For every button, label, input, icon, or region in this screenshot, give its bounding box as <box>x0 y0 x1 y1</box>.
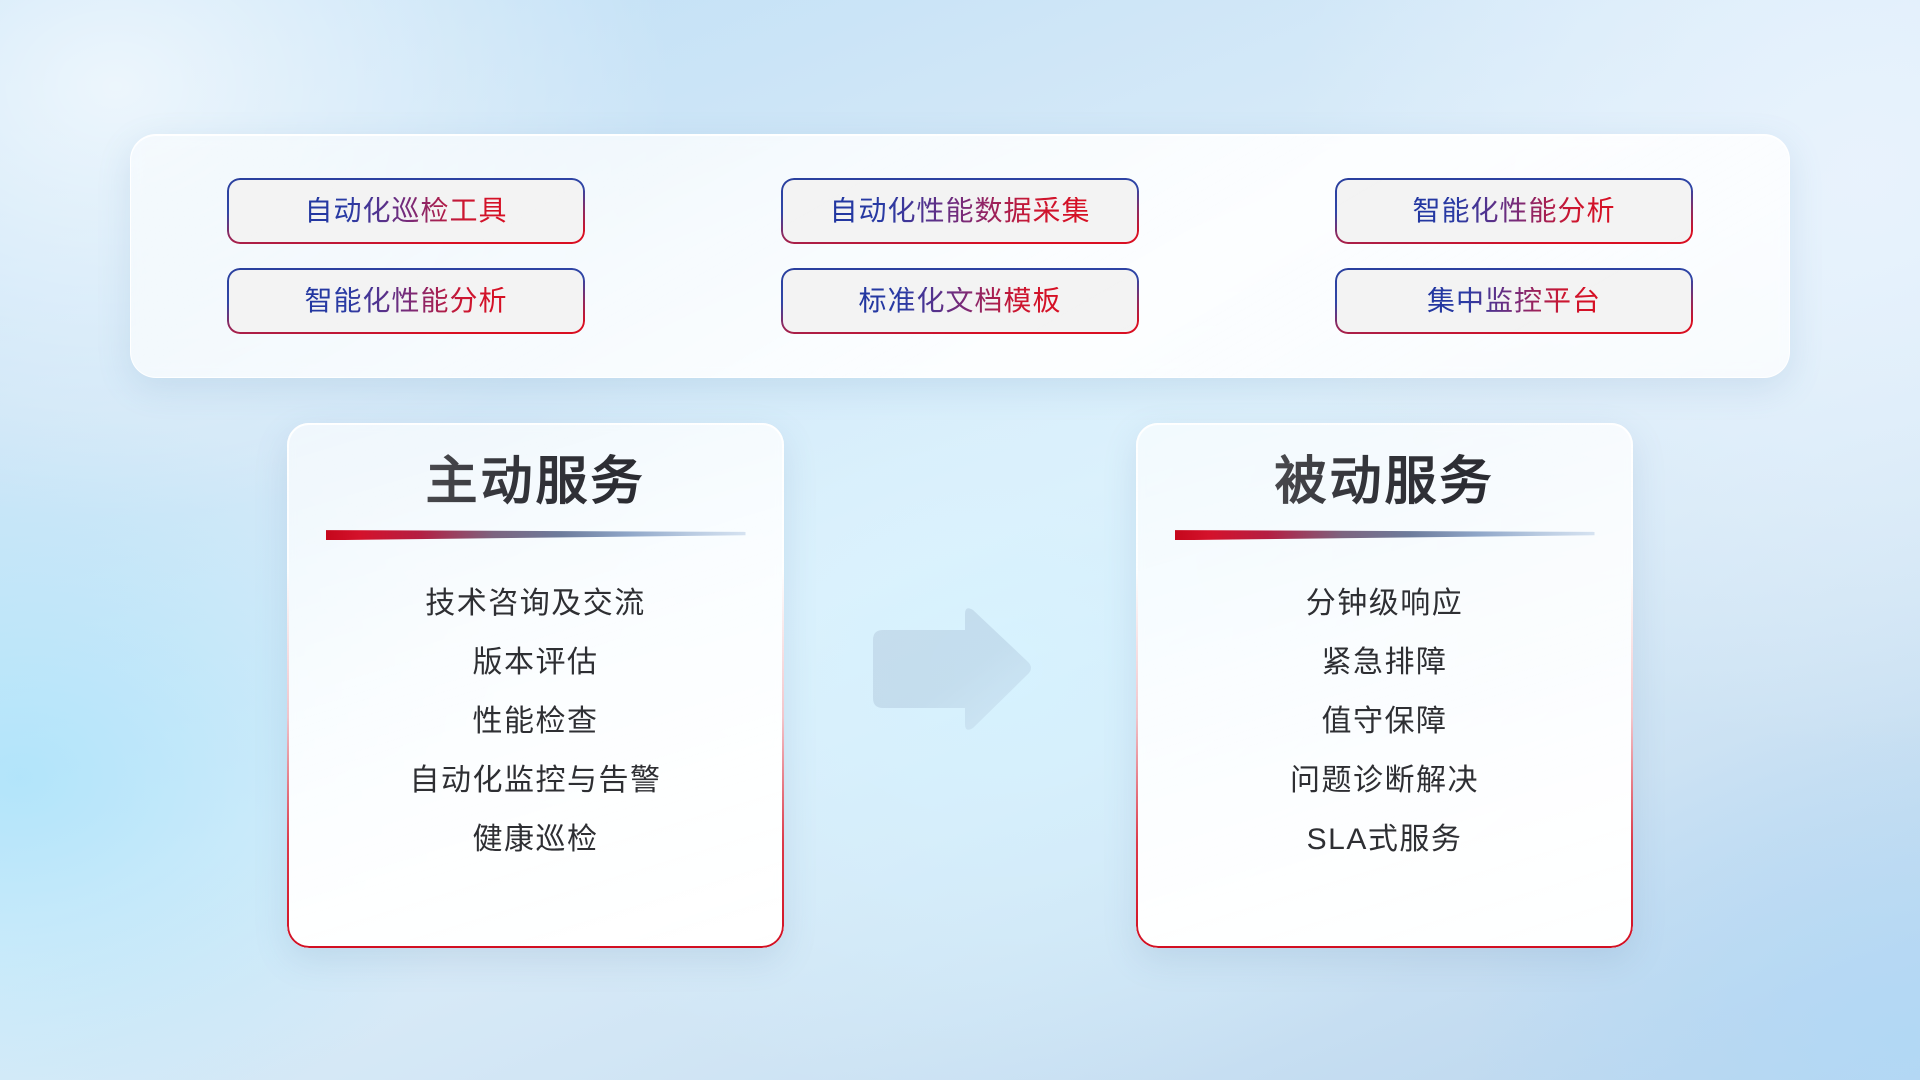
service-card-reactive: 被动服务 分钟级响应 紧急排障 值守保障 问题诊断解决 SLA式服务 <box>1136 423 1633 948</box>
card-content: 被动服务 分钟级响应 紧急排障 值守保障 问题诊断解决 SLA式服务 <box>1136 423 1633 948</box>
service-list-item: 紧急排障 <box>1322 633 1448 692</box>
capability-pill-standard-doc-template[interactable]: 标准化文档模板 <box>781 268 1139 334</box>
capability-pill-intelligent-perf-analysis[interactable]: 智能化性能分析 <box>1335 178 1693 244</box>
capability-row-2: 智能化性能分析 标准化文档模板 集中监控平台 <box>227 268 1693 334</box>
service-list-item: 版本评估 <box>473 633 599 692</box>
capability-pill-intelligent-perf-analysis-2[interactable]: 智能化性能分析 <box>227 268 585 334</box>
card-content: 主动服务 技术咨询及交流 版本评估 性能检查 自动化监控与告警 健康巡检 <box>287 423 784 948</box>
service-list-item: 自动化监控与告警 <box>410 751 662 810</box>
service-list-item: SLA式服务 <box>1307 810 1463 869</box>
capability-pill-label: 智能化性能分析 <box>304 287 507 315</box>
capability-panel: 自动化巡检工具 自动化性能数据采集 智能化性能分析 智能化性能分析 标准化文档模… <box>130 134 1790 378</box>
capability-pill-auto-perf-data-collection[interactable]: 自动化性能数据采集 <box>781 178 1139 244</box>
capability-pill-label: 自动化巡检工具 <box>304 197 507 225</box>
service-list-item: 值守保障 <box>1322 692 1448 751</box>
card-title: 被动服务 <box>1274 453 1494 511</box>
service-list-item: 健康巡检 <box>473 810 599 869</box>
service-list-item: 问题诊断解决 <box>1290 751 1479 810</box>
capability-pill-label: 标准化文档模板 <box>858 287 1061 315</box>
service-list-item: 性能检查 <box>473 692 599 751</box>
service-list-item: 分钟级响应 <box>1306 574 1464 633</box>
service-list-item: 技术咨询及交流 <box>425 574 646 633</box>
service-item-list: 技术咨询及交流 版本评估 性能检查 自动化监控与告警 健康巡检 <box>287 574 784 869</box>
divider-bar <box>1175 527 1595 540</box>
divider-bar <box>326 527 746 540</box>
capability-row-1: 自动化巡检工具 自动化性能数据采集 智能化性能分析 <box>227 178 1693 244</box>
capability-pill-auto-inspection-tool[interactable]: 自动化巡检工具 <box>227 178 585 244</box>
service-card-proactive: 主动服务 技术咨询及交流 版本评估 性能检查 自动化监控与告警 健康巡检 <box>287 423 784 948</box>
capability-pill-centralized-monitoring[interactable]: 集中监控平台 <box>1335 268 1693 334</box>
service-item-list: 分钟级响应 紧急排障 值守保障 问题诊断解决 SLA式服务 <box>1136 574 1633 869</box>
slide-canvas: 自动化巡检工具 自动化性能数据采集 智能化性能分析 智能化性能分析 标准化文档模… <box>0 0 1920 1080</box>
card-title: 主动服务 <box>425 453 645 511</box>
card-divider <box>326 527 746 540</box>
capability-pill-label: 智能化性能分析 <box>1412 197 1615 225</box>
arrow-right-icon <box>865 604 1035 734</box>
capability-pill-label: 自动化性能数据采集 <box>829 197 1090 225</box>
capability-pill-label: 集中监控平台 <box>1427 287 1601 315</box>
card-divider <box>1175 527 1595 540</box>
